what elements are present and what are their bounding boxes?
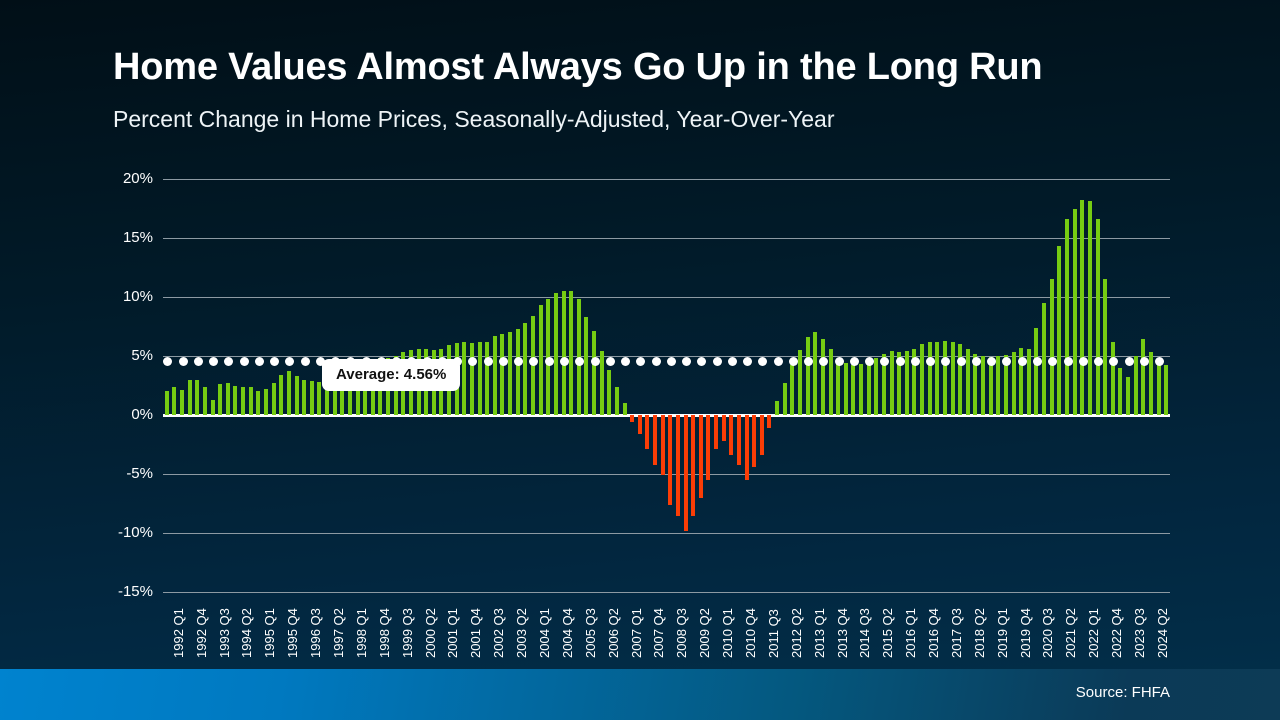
bar bbox=[714, 415, 718, 449]
bar bbox=[981, 356, 985, 415]
x-axis-tick-label: 2007 Q1 bbox=[629, 596, 644, 658]
bar bbox=[470, 343, 474, 415]
bar bbox=[928, 342, 932, 415]
bar bbox=[554, 293, 558, 415]
average-annotation-label: Average: 4.56% bbox=[322, 359, 460, 391]
y-axis-tick-label: -10% bbox=[98, 524, 153, 541]
bar bbox=[607, 370, 611, 415]
bar bbox=[478, 342, 482, 415]
bar bbox=[1050, 279, 1054, 415]
bar bbox=[310, 381, 314, 415]
bar bbox=[577, 299, 581, 415]
y-axis-tick-label: 10% bbox=[98, 288, 153, 305]
y-axis-labels: 20%15%10%5%0%-5%-10%-15% bbox=[98, 179, 153, 592]
x-axis-tick-label: 2019 Q4 bbox=[1018, 596, 1033, 658]
x-axis-tick-label: 2003 Q2 bbox=[514, 596, 529, 658]
x-axis-tick-label: 2010 Q4 bbox=[743, 596, 758, 658]
x-axis-tick-label: 2013 Q4 bbox=[835, 596, 850, 658]
bar bbox=[745, 415, 749, 480]
x-axis-tick-label: 2017 Q3 bbox=[949, 596, 964, 658]
bar bbox=[287, 371, 291, 415]
bar bbox=[897, 352, 901, 415]
bar bbox=[302, 380, 306, 415]
bar bbox=[783, 383, 787, 415]
x-axis-tick-label: 2022 Q4 bbox=[1109, 596, 1124, 658]
bar bbox=[1096, 219, 1100, 415]
bar bbox=[760, 415, 764, 455]
bar bbox=[905, 351, 909, 415]
x-axis-tick-label: 2021 Q2 bbox=[1063, 596, 1078, 658]
y-axis-tick-label: 5% bbox=[98, 347, 153, 364]
x-axis-tick-label: 2020 Q3 bbox=[1040, 596, 1055, 658]
bar bbox=[1034, 328, 1038, 415]
bar bbox=[180, 390, 184, 415]
bar bbox=[485, 342, 489, 415]
bar bbox=[859, 364, 863, 415]
bar bbox=[737, 415, 741, 465]
bar bbox=[1004, 355, 1008, 415]
x-axis-tick-label: 2004 Q4 bbox=[560, 596, 575, 658]
bar bbox=[912, 349, 916, 415]
bar bbox=[989, 357, 993, 415]
bar bbox=[958, 344, 962, 415]
bar bbox=[584, 317, 588, 415]
x-axis-tick-label: 2000 Q2 bbox=[423, 596, 438, 658]
bar bbox=[1157, 363, 1161, 415]
x-axis-tick-label: 2011 Q3 bbox=[766, 596, 781, 658]
gridline bbox=[163, 592, 1170, 593]
bar bbox=[546, 299, 550, 415]
y-axis-tick-label: 0% bbox=[98, 406, 153, 423]
bar-series bbox=[163, 179, 1170, 592]
bar bbox=[1141, 339, 1145, 415]
bar bbox=[203, 387, 207, 415]
bar bbox=[218, 384, 222, 415]
bar bbox=[638, 415, 642, 434]
bar bbox=[615, 387, 619, 415]
x-axis-tick-label: 1996 Q3 bbox=[308, 596, 323, 658]
bar bbox=[882, 354, 886, 415]
bar bbox=[1126, 377, 1130, 415]
bar bbox=[775, 401, 779, 415]
y-axis-tick-label: -15% bbox=[98, 583, 153, 600]
source-attribution: Source: FHFA bbox=[1076, 684, 1170, 701]
bar bbox=[966, 349, 970, 415]
bar bbox=[295, 376, 299, 415]
bar bbox=[691, 415, 695, 516]
x-axis-tick-label: 2012 Q2 bbox=[789, 596, 804, 658]
bar bbox=[653, 415, 657, 465]
bar bbox=[821, 339, 825, 415]
bar bbox=[233, 386, 237, 416]
bar bbox=[806, 337, 810, 415]
chart-plot-area bbox=[163, 179, 1170, 592]
bar bbox=[272, 383, 276, 415]
bar bbox=[874, 358, 878, 415]
bar bbox=[867, 362, 871, 415]
y-axis-tick-label: 15% bbox=[98, 229, 153, 246]
bar bbox=[813, 332, 817, 415]
bar bbox=[668, 415, 672, 505]
bar bbox=[1027, 349, 1031, 415]
bar bbox=[1057, 246, 1061, 415]
x-axis-tick-label: 1998 Q4 bbox=[377, 596, 392, 658]
bar bbox=[279, 375, 283, 415]
x-axis-tick-label: 2001 Q1 bbox=[445, 596, 460, 658]
x-axis-tick-label: 2014 Q3 bbox=[857, 596, 872, 658]
bar bbox=[195, 380, 199, 415]
x-axis-tick-label: 2024 Q2 bbox=[1155, 596, 1170, 658]
bar bbox=[752, 415, 756, 467]
x-axis-tick-label: 1993 Q3 bbox=[217, 596, 232, 658]
bar bbox=[1118, 368, 1122, 415]
bar bbox=[851, 365, 855, 415]
bar bbox=[1073, 209, 1077, 416]
bar bbox=[1134, 356, 1138, 415]
x-axis-tick-label: 1999 Q3 bbox=[400, 596, 415, 658]
x-axis-tick-label: 2023 Q3 bbox=[1132, 596, 1147, 658]
bar bbox=[165, 391, 169, 415]
x-axis-tick-label: 2016 Q1 bbox=[903, 596, 918, 658]
bar bbox=[1042, 303, 1046, 415]
bar bbox=[630, 415, 634, 422]
x-axis-tick-label: 2008 Q3 bbox=[674, 596, 689, 658]
bar bbox=[973, 354, 977, 415]
bar bbox=[256, 391, 260, 415]
x-axis-tick-label: 2010 Q1 bbox=[720, 596, 735, 658]
bar bbox=[188, 380, 192, 415]
x-axis-tick-label: 2002 Q3 bbox=[491, 596, 506, 658]
bar bbox=[1080, 200, 1084, 415]
x-axis-tick-label: 2004 Q1 bbox=[537, 596, 552, 658]
x-axis-tick-label: 2006 Q2 bbox=[606, 596, 621, 658]
y-axis-tick-label: -5% bbox=[98, 465, 153, 482]
x-axis-tick-label: 1997 Q2 bbox=[331, 596, 346, 658]
bar bbox=[1164, 365, 1168, 415]
bar bbox=[722, 415, 726, 441]
bar bbox=[562, 291, 566, 415]
bar bbox=[790, 365, 794, 415]
x-axis-tick-label: 2001 Q4 bbox=[468, 596, 483, 658]
bar bbox=[684, 415, 688, 531]
bar bbox=[508, 332, 512, 415]
bar bbox=[462, 342, 466, 415]
bar bbox=[920, 344, 924, 415]
bar bbox=[523, 323, 527, 415]
x-axis-tick-label: 2019 Q1 bbox=[995, 596, 1010, 658]
x-axis-tick-label: 1995 Q1 bbox=[262, 596, 277, 658]
bar bbox=[1012, 352, 1016, 415]
bar bbox=[249, 387, 253, 415]
x-axis-tick-label: 2005 Q3 bbox=[583, 596, 598, 658]
bar bbox=[729, 415, 733, 455]
bar bbox=[676, 415, 680, 516]
y-axis-tick-label: 20% bbox=[98, 170, 153, 187]
bar bbox=[172, 387, 176, 415]
bar bbox=[1065, 219, 1069, 415]
bar bbox=[226, 383, 230, 415]
bar bbox=[531, 316, 535, 415]
bar bbox=[516, 329, 520, 415]
bar bbox=[1088, 201, 1092, 415]
bar bbox=[699, 415, 703, 498]
x-axis-tick-label: 2007 Q4 bbox=[651, 596, 666, 658]
bar bbox=[844, 363, 848, 415]
bar bbox=[211, 400, 215, 415]
bar bbox=[767, 415, 771, 428]
page-title: Home Values Almost Always Go Up in the L… bbox=[113, 46, 1042, 89]
bar bbox=[539, 305, 543, 415]
bar bbox=[569, 291, 573, 415]
bar bbox=[943, 341, 947, 415]
x-axis-tick-label: 2018 Q2 bbox=[972, 596, 987, 658]
bar bbox=[1103, 279, 1107, 415]
bar bbox=[1111, 342, 1115, 415]
bar bbox=[264, 389, 268, 415]
bar bbox=[996, 356, 1000, 415]
bar bbox=[592, 331, 596, 415]
x-axis-tick-label: 1992 Q1 bbox=[171, 596, 186, 658]
bar bbox=[600, 351, 604, 415]
x-axis-tick-label: 2009 Q2 bbox=[697, 596, 712, 658]
bar bbox=[706, 415, 710, 480]
x-axis-tick-label: 1998 Q1 bbox=[354, 596, 369, 658]
bar bbox=[241, 387, 245, 415]
x-axis-tick-label: 2013 Q1 bbox=[812, 596, 827, 658]
bar bbox=[645, 415, 649, 449]
bar bbox=[935, 342, 939, 415]
bar bbox=[829, 349, 833, 415]
bar bbox=[836, 361, 840, 415]
x-axis-tick-label: 1995 Q4 bbox=[285, 596, 300, 658]
bar bbox=[1019, 348, 1023, 415]
bar bbox=[951, 342, 955, 415]
bar bbox=[500, 334, 504, 415]
x-axis-tick-label: 2022 Q1 bbox=[1086, 596, 1101, 658]
bar bbox=[493, 336, 497, 415]
bar bbox=[623, 403, 627, 415]
bar bbox=[317, 382, 321, 415]
page-subtitle: Percent Change in Home Prices, Seasonall… bbox=[113, 106, 834, 133]
x-axis-labels: 1992 Q11992 Q41993 Q31994 Q21995 Q11995 … bbox=[163, 596, 1170, 658]
x-axis-tick-label: 2015 Q2 bbox=[880, 596, 895, 658]
slide-canvas: Home Values Almost Always Go Up in the L… bbox=[0, 0, 1280, 720]
x-axis-tick-label: 2016 Q4 bbox=[926, 596, 941, 658]
bar bbox=[798, 350, 802, 415]
bar bbox=[1149, 352, 1153, 415]
bar bbox=[890, 351, 894, 415]
x-axis-tick-label: 1994 Q2 bbox=[239, 596, 254, 658]
x-axis-tick-label: 1992 Q4 bbox=[194, 596, 209, 658]
bar bbox=[661, 415, 665, 475]
